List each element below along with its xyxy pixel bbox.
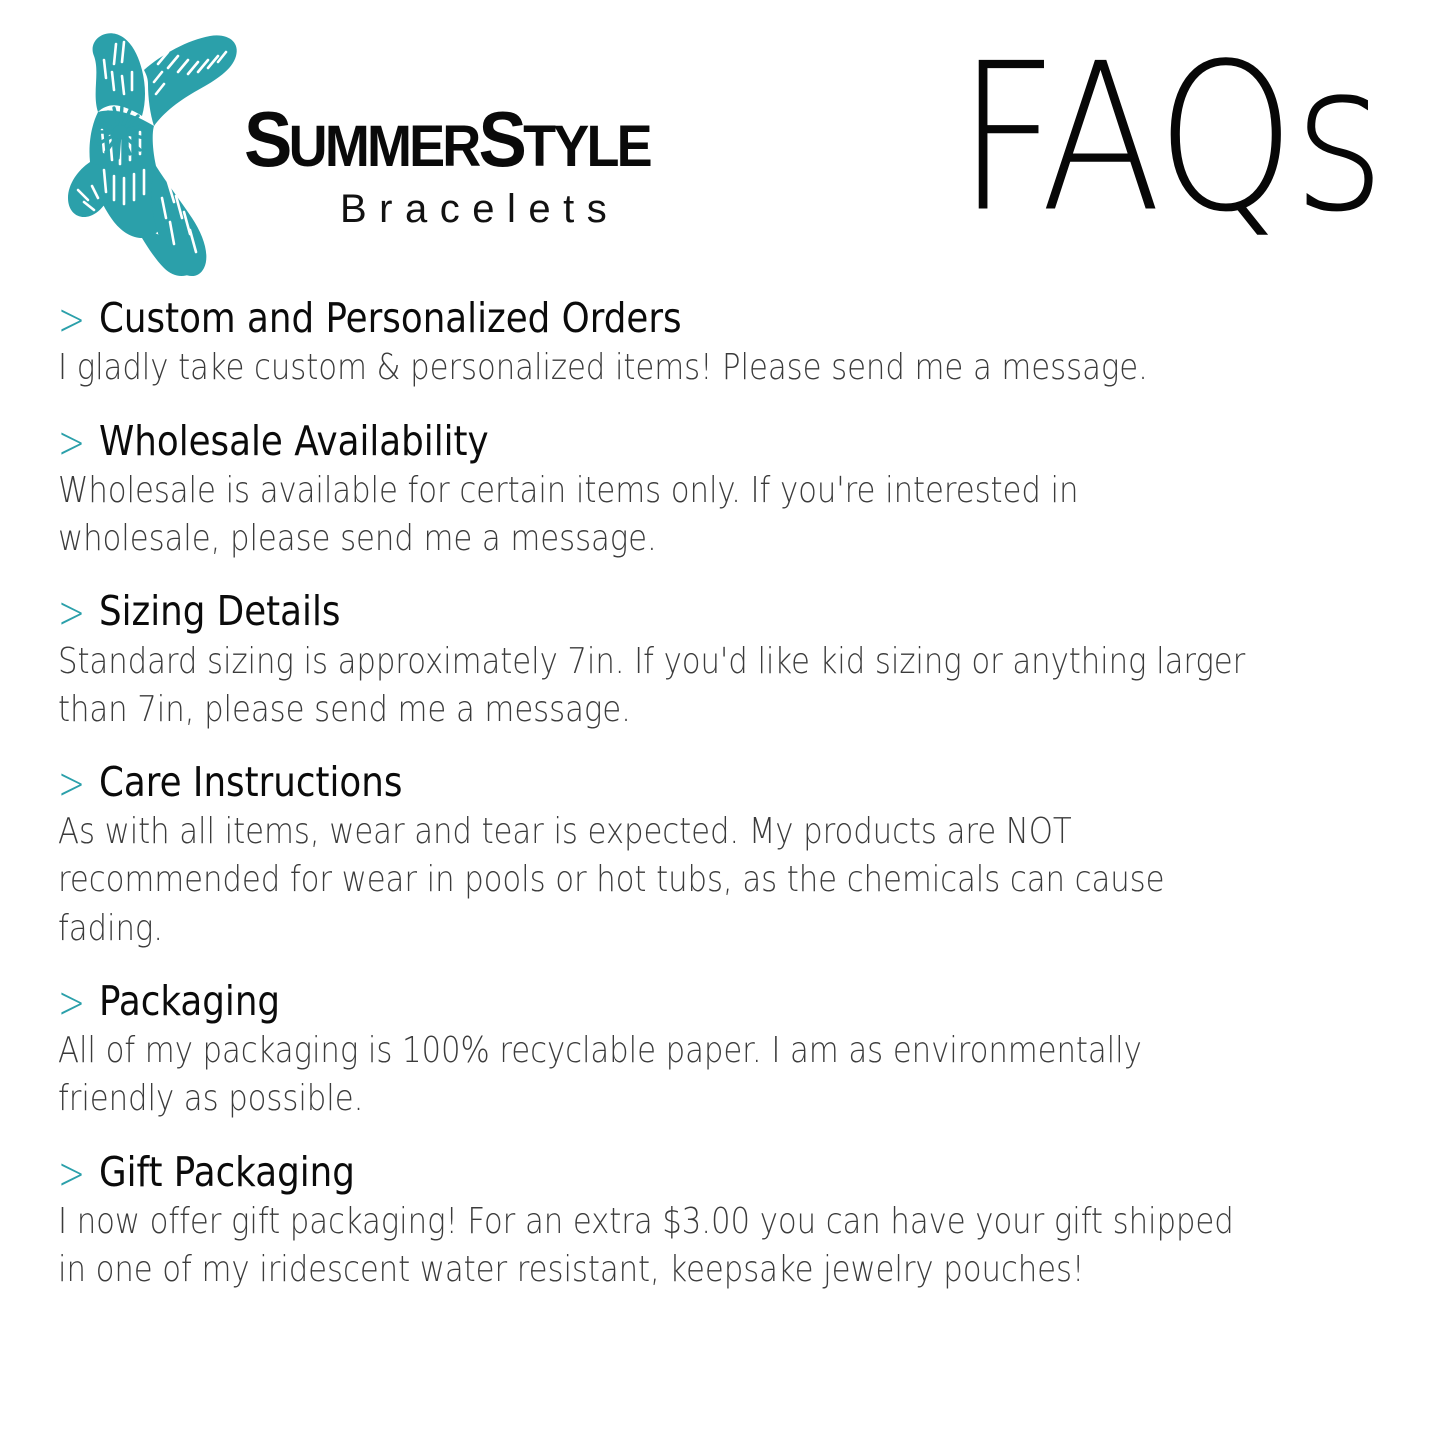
faq-item: > Wholesale Availability Wholesale is av… [58, 419, 1248, 564]
chevron-right-icon: > [58, 590, 85, 635]
chevron-right-icon: > [58, 297, 85, 342]
faq-heading-label: Sizing Details [99, 589, 340, 633]
wordmark-s2: S [478, 95, 523, 183]
chevron-right-icon: > [58, 980, 85, 1025]
faq-page: SUMMERSTYLE Bracelets FAQs > Custom and … [0, 0, 1445, 1445]
faq-item: > Gift Packaging I now offer gift packag… [58, 1150, 1248, 1295]
page-title: FAQs [957, 36, 1383, 240]
page-header: SUMMERSTYLE Bracelets FAQs [0, 0, 1445, 292]
faq-item: > Sizing Details Standard sizing is appr… [58, 589, 1248, 734]
faq-body-text: I now offer gift packaging! For an extra… [58, 1198, 1246, 1294]
faq-body-text: All of my packaging is 100% recyclable p… [58, 1027, 1246, 1123]
faq-heading-label: Packaging [99, 979, 280, 1023]
faq-heading: > Custom and Personalized Orders [58, 296, 1248, 340]
faq-item: > Custom and Personalized Orders I gladl… [58, 296, 1248, 393]
brand-text: SUMMERSTYLE Bracelets [244, 106, 659, 232]
faq-body-text: As with all items, wear and tear is expe… [58, 808, 1246, 953]
faq-body-text: Wholesale is available for certain items… [58, 467, 1246, 563]
faq-heading: > Care Instructions [58, 760, 1248, 804]
faq-heading-label: Wholesale Availability [99, 419, 489, 463]
faq-heading: > Packaging [58, 979, 1248, 1023]
brand-tagline: Bracelets [340, 187, 659, 232]
wordmark-s1: S [244, 95, 289, 183]
chevron-right-icon: > [58, 419, 85, 464]
starfish-icon [58, 20, 243, 282]
faq-heading: > Gift Packaging [58, 1150, 1248, 1194]
faq-list: > Custom and Personalized Orders I gladl… [58, 296, 1248, 1294]
faq-body-text: Standard sizing is approximately 7in. If… [58, 638, 1246, 734]
chevron-right-icon: > [58, 1150, 85, 1195]
faq-item: > Packaging All of my packaging is 100% … [58, 979, 1248, 1124]
faq-heading: > Wholesale Availability [58, 419, 1248, 463]
chevron-right-icon: > [58, 761, 85, 806]
wordmark-ummer: UMMER [289, 114, 479, 179]
brand-lockup: SUMMERSTYLE Bracelets [58, 20, 658, 282]
faq-heading-label: Custom and Personalized Orders [99, 296, 682, 340]
faq-body-text: I gladly take custom & personalized item… [58, 344, 1246, 392]
faq-heading-label: Gift Packaging [99, 1150, 355, 1194]
faq-item: > Care Instructions As with all items, w… [58, 760, 1248, 953]
faq-heading: > Sizing Details [58, 589, 1248, 633]
wordmark-tyle: TYLE [523, 114, 650, 179]
brand-wordmark: SUMMERSTYLE [244, 106, 630, 173]
faq-heading-label: Care Instructions [99, 760, 402, 804]
